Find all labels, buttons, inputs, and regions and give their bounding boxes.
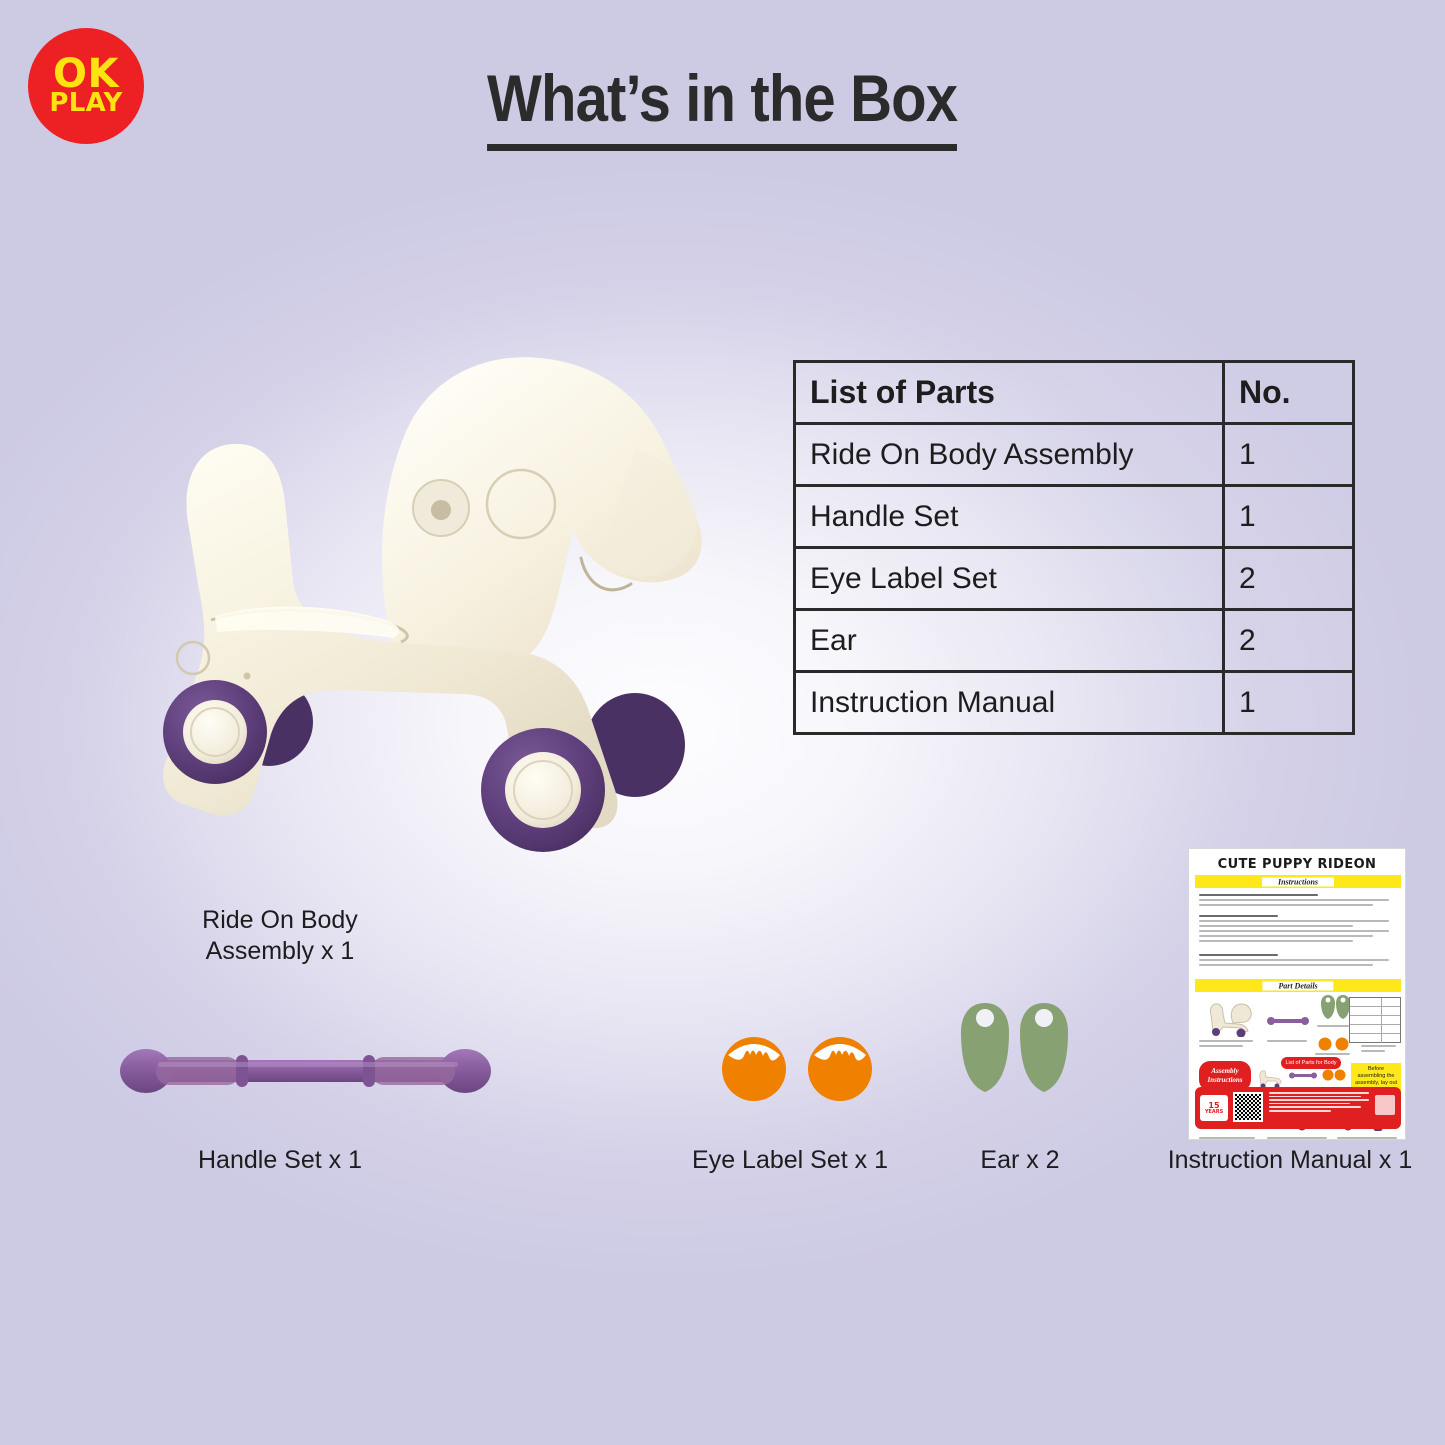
parts-table: List of Parts No. Ride On Body Assembly … xyxy=(793,360,1355,735)
manual-subtitle: Instructions xyxy=(1262,877,1334,886)
cell-part-name: Eye Label Set xyxy=(795,548,1224,610)
handle-grip-right xyxy=(371,1057,455,1085)
manual-fig-step3 xyxy=(1321,1069,1347,1081)
manual-parts-minitable xyxy=(1349,997,1401,1043)
ride-on-body-assembly-image xyxy=(75,320,755,930)
table-row: Ride On Body Assembly 1 xyxy=(795,424,1354,486)
manual-steps-text xyxy=(1199,915,1397,945)
manual-fig-step2 xyxy=(1289,1071,1317,1081)
cell-part-qty: 1 xyxy=(1224,424,1354,486)
instruction-manual-label: Instruction Manual x 1 xyxy=(1120,1145,1445,1176)
page-title: What’s in the Box xyxy=(487,60,957,151)
cell-part-qty: 1 xyxy=(1224,672,1354,734)
table-row: Instruction Manual 1 xyxy=(795,672,1354,734)
cell-part-qty: 2 xyxy=(1224,610,1354,672)
manual-instructions-bar: Instructions xyxy=(1195,875,1401,888)
handle-collar-right xyxy=(363,1055,375,1087)
manual-age-unit: YEARS xyxy=(1205,1110,1223,1115)
cell-part-name: Instruction Manual xyxy=(795,672,1224,734)
toy-sparkle xyxy=(244,673,251,680)
manual-footer-text xyxy=(1269,1092,1373,1114)
qr-code-icon xyxy=(1233,1092,1263,1122)
table-row: Handle Set 1 xyxy=(795,486,1354,548)
puppy-rideon-svg xyxy=(75,320,755,930)
handle-highlight xyxy=(158,1062,458,1067)
eye-label-set-label: Eye Label Set x 1 xyxy=(640,1145,940,1176)
ride-on-body-assembly-label: Ride On Body Assembly x 1 xyxy=(110,905,450,966)
manual-footer: 15 YEARS xyxy=(1195,1087,1401,1129)
manual-red-pill: List of Parts for Body xyxy=(1281,1057,1341,1069)
cell-part-qty: 2 xyxy=(1224,548,1354,610)
manual-notes-text xyxy=(1199,954,1397,969)
page-title-container: What’s in the Box xyxy=(0,60,1445,151)
manual-fig-handle-caption xyxy=(1267,1040,1309,1045)
manual-title: CUTE PUPPY RIDEON xyxy=(1189,857,1405,872)
eye-label-left xyxy=(722,1037,786,1101)
manual-fig-eye xyxy=(1317,1037,1351,1051)
eye-label-set-svg xyxy=(718,1025,888,1105)
handle-set-label: Handle Set x 1 xyxy=(110,1145,450,1176)
manual-fig-manual-caption xyxy=(1361,1045,1401,1055)
manual-fig-rideon xyxy=(1203,999,1255,1037)
ear-svg xyxy=(955,1000,1075,1105)
cell-part-name: Handle Set xyxy=(795,486,1224,548)
manual-fig-ear-caption xyxy=(1317,1025,1353,1030)
handle-grip-left xyxy=(156,1057,240,1085)
cell-part-name: Ride On Body Assembly xyxy=(795,424,1224,486)
front-wheel-near xyxy=(481,728,605,852)
manual-step1-caption xyxy=(1199,1137,1257,1140)
ear-right xyxy=(1020,1003,1068,1092)
table-row: Eye Label Set 2 xyxy=(795,548,1354,610)
ear-label: Ear x 2 xyxy=(920,1145,1120,1176)
manual-safety-text xyxy=(1199,894,1397,909)
rear-wheel-near xyxy=(163,680,267,784)
infographic-page: OK PLAY What’s in the Box xyxy=(0,0,1445,1445)
manual-step3-caption xyxy=(1337,1137,1399,1140)
table-header-row: List of Parts No. xyxy=(795,362,1354,424)
manual-fig-rideon-caption xyxy=(1199,1040,1255,1050)
table-row: Ear 2 xyxy=(795,610,1354,672)
handle-collar-left xyxy=(236,1055,248,1087)
ear-left xyxy=(961,1003,1009,1092)
toy-screw-hole xyxy=(431,500,451,520)
manual-part-details-bar: Part Details xyxy=(1195,979,1401,992)
manual-cert-mark-icon xyxy=(1375,1095,1395,1115)
cell-part-qty: 1 xyxy=(1224,486,1354,548)
column-header-no: No. xyxy=(1224,362,1354,424)
manual-step2-caption xyxy=(1267,1137,1329,1140)
handle-set-image xyxy=(118,1040,493,1102)
cell-part-name: Ear xyxy=(795,610,1224,672)
manual-fig-ear xyxy=(1319,994,1351,1020)
manual-part-details-label: Part Details xyxy=(1262,981,1333,990)
handle-set-svg xyxy=(118,1040,493,1102)
eye-label-right xyxy=(808,1037,872,1101)
column-header-parts: List of Parts xyxy=(795,362,1224,424)
manual-age-badge: 15 YEARS xyxy=(1200,1095,1228,1121)
ear-image xyxy=(955,1000,1075,1105)
manual-fig-handle xyxy=(1267,1015,1309,1027)
instruction-manual-image: CUTE PUPPY RIDEON Instructions xyxy=(1188,848,1406,1140)
eye-label-set-image xyxy=(718,1025,888,1105)
